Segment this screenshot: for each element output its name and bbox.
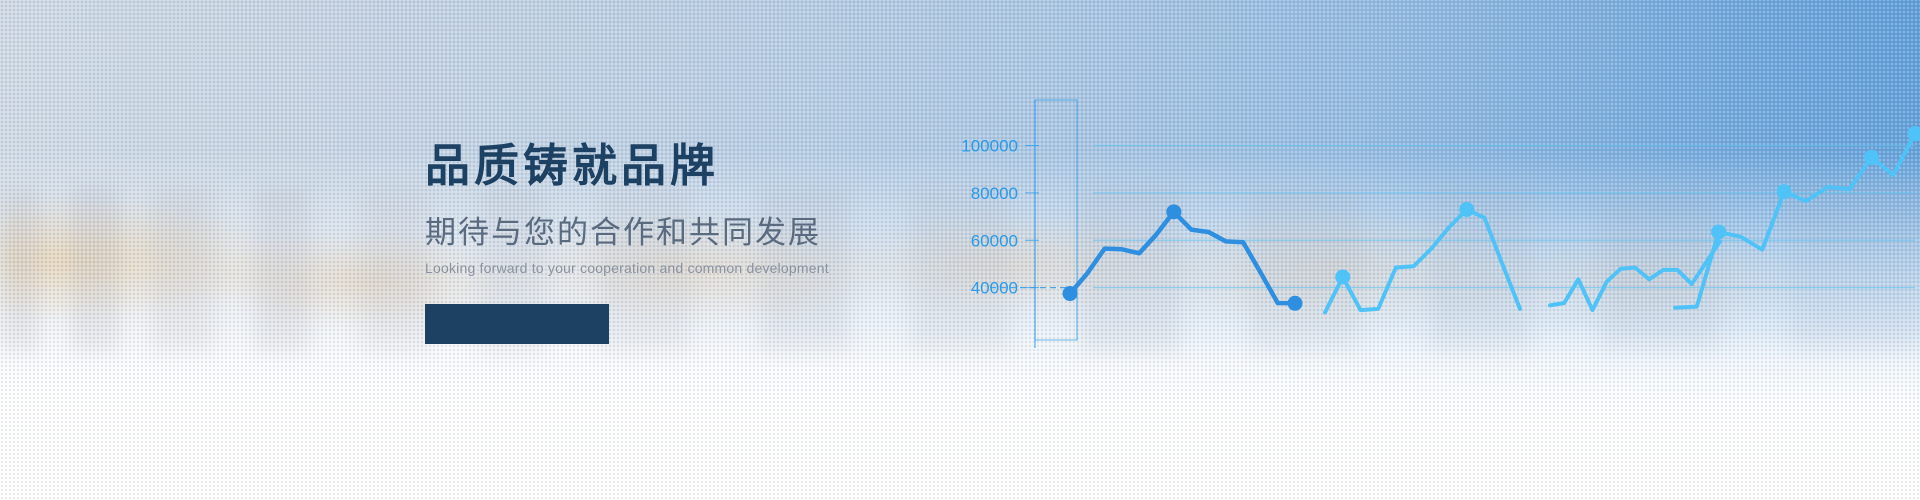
subtitle-english: Looking forward to your cooperation and … — [425, 260, 945, 276]
cta-button[interactable] — [425, 304, 609, 344]
y-axis-tick-label: 80000 — [971, 184, 1018, 203]
chart-data-point — [1864, 150, 1879, 165]
axis-frame-box — [1035, 100, 1077, 340]
chart-data-point — [1335, 269, 1350, 284]
chart-line-segment-1 — [1070, 212, 1295, 303]
y-axis-tick-label: 60000 — [971, 231, 1018, 250]
chart-canvas: 400006000080000100000 — [930, 100, 1920, 400]
chart-line-segment-4 — [1675, 134, 1915, 308]
subtitle-chinese: 期待与您的合作和共同发展 — [425, 214, 945, 251]
page-title: 品质铸就品牌 — [425, 140, 945, 192]
hero-banner: 品质铸就品牌 期待与您的合作和共同发展 Looking forward to y… — [0, 0, 1920, 500]
banner-copy-block: 品质铸就品牌 期待与您的合作和共同发展 Looking forward to y… — [425, 140, 945, 344]
chart-data-point — [1063, 286, 1078, 301]
chart-data-point — [1777, 184, 1792, 199]
chart-line-segment-3 — [1550, 241, 1720, 310]
chart-data-point — [1288, 296, 1303, 311]
line-chart: 400006000080000100000 — [930, 100, 1920, 400]
chart-line-segment-2 — [1325, 210, 1520, 313]
chart-data-point — [1711, 224, 1726, 239]
y-axis-tick-label: 100000 — [961, 137, 1018, 156]
chart-data-point — [1166, 204, 1181, 219]
chart-data-point — [1908, 126, 1920, 141]
chart-data-point — [1459, 202, 1474, 217]
